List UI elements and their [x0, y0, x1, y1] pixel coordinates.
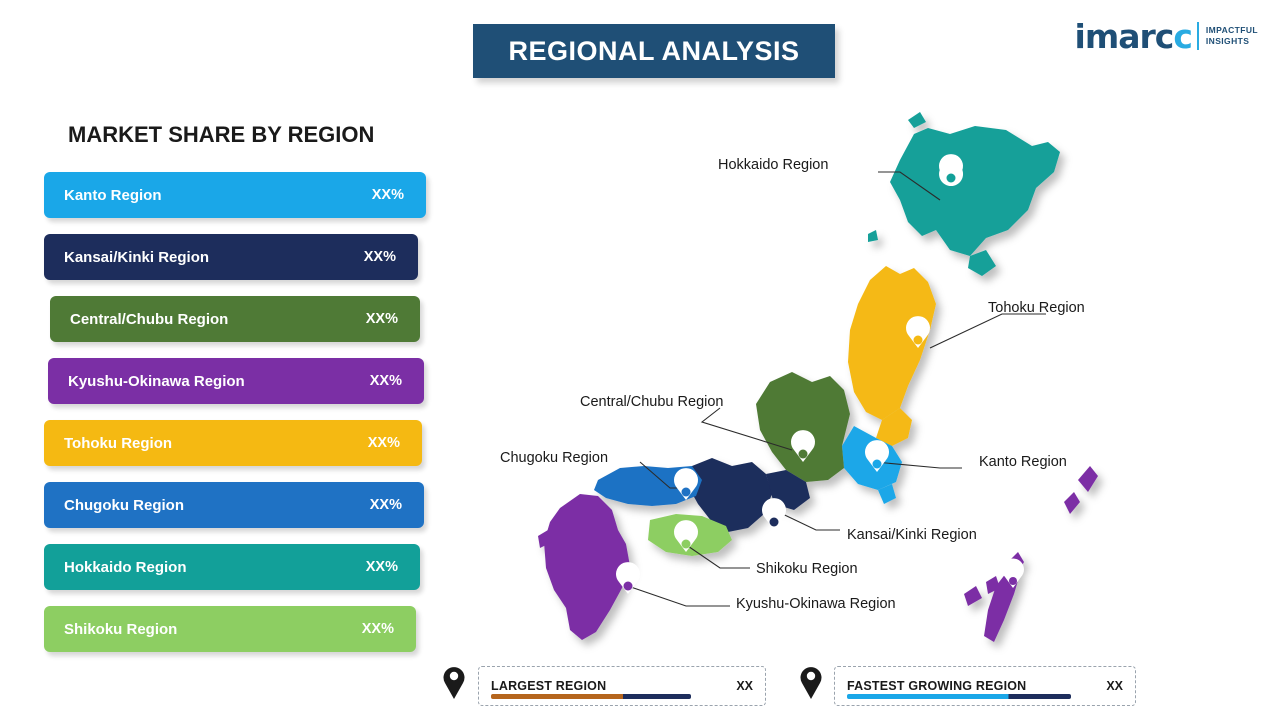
legend-row-kansai-kinki[interactable]: Kansai/Kinki Region XX%	[44, 234, 418, 280]
legend-row-kanto[interactable]: Kanto Region XX%	[44, 172, 426, 218]
callout-kansai-kinki: Kansai/Kinki Region	[847, 527, 977, 543]
logo-accent-dot: c	[1173, 17, 1192, 56]
legend-value: XX%	[370, 497, 402, 513]
fastest-region-value: XX	[1106, 679, 1123, 693]
fastest-region-bar	[847, 694, 1071, 699]
logo-tagline: IMPACTFUL INSIGHTS	[1206, 25, 1258, 46]
logo-tagline-line2: INSIGHTS	[1206, 36, 1258, 47]
fastest-region-label: FASTEST GROWING REGION	[847, 679, 1026, 693]
legend-value: XX%	[370, 373, 402, 389]
legend-row-tohoku[interactable]: Tohoku Region XX%	[44, 420, 422, 466]
legend-row-kyushu-okinawa[interactable]: Kyushu-Okinawa Region XX%	[48, 358, 424, 404]
legend-value: XX%	[366, 559, 398, 575]
slide-root: REGIONAL ANALYSIS imarcc IMPACTFUL INSIG…	[0, 0, 1280, 720]
legend-label: Tohoku Region	[64, 435, 172, 452]
page-title: REGIONAL ANALYSIS	[508, 36, 799, 67]
largest-region-label: LARGEST REGION	[491, 679, 606, 693]
legend-row-central-chubu[interactable]: Central/Chubu Region XX%	[50, 296, 420, 342]
legend-label: Kansai/Kinki Region	[64, 249, 209, 266]
legend-label: Chugoku Region	[64, 497, 184, 514]
legend-value: XX%	[372, 187, 404, 203]
callout-kanto: Kanto Region	[979, 454, 1067, 470]
logo-tagline-line1: IMPACTFUL	[1206, 25, 1258, 36]
largest-region-bar	[491, 694, 691, 699]
legend-row-shikoku[interactable]: Shikoku Region XX%	[44, 606, 416, 652]
legend-value: XX%	[368, 435, 400, 451]
region-legend-list: Kanto Region XX% Kansai/Kinki Region XX%…	[44, 172, 426, 668]
region-tohoku[interactable]	[848, 266, 936, 420]
legend-value: XX%	[362, 621, 394, 637]
leader-kyushu	[622, 584, 730, 606]
largest-region-value: XX	[736, 679, 753, 693]
region-hokkaido-tail[interactable]	[968, 250, 996, 276]
brand-logo: imarcc IMPACTFUL INSIGHTS	[1075, 18, 1258, 54]
region-hokkaido-island-small[interactable]	[908, 112, 926, 128]
largest-region-box: LARGEST REGION XX	[478, 666, 766, 706]
region-central-chubu[interactable]	[756, 372, 850, 482]
callout-shikoku: Shikoku Region	[756, 561, 858, 577]
legend-value: XX%	[366, 311, 398, 327]
region-hokkaido[interactable]	[890, 126, 1060, 256]
pin-hokkaido-icon[interactable]	[939, 154, 963, 186]
legend-label: Hokkaido Region	[64, 559, 187, 576]
region-kyushu[interactable]	[544, 494, 630, 640]
region-hokkaido-island-dot[interactable]	[868, 230, 878, 242]
legend-row-hokkaido[interactable]: Hokkaido Region XX%	[44, 544, 420, 590]
callout-kyushu-okinawa: Kyushu-Okinawa Region	[736, 596, 896, 612]
legend-label: Kanto Region	[64, 187, 162, 204]
legend-label: Shikoku Region	[64, 621, 177, 638]
legend-label: Central/Chubu Region	[70, 311, 228, 328]
legend-row-chugoku[interactable]: Chugoku Region XX%	[44, 482, 424, 528]
region-okinawa-chain-a[interactable]	[1078, 466, 1098, 492]
page-title-banner: REGIONAL ANALYSIS	[473, 24, 835, 78]
callout-hokkaido: Hokkaido Region	[718, 157, 828, 173]
logo-wordmark: imarcc	[1075, 20, 1192, 53]
legend-value: XX%	[364, 249, 396, 265]
region-okinawa-chain-d[interactable]	[964, 586, 982, 606]
callout-chugoku: Chugoku Region	[500, 450, 608, 466]
fastest-region-pin-icon	[798, 665, 824, 699]
leader-tohoku	[930, 314, 1046, 348]
fastest-region-box: FASTEST GROWING REGION XX	[834, 666, 1136, 706]
largest-region-pin-icon	[441, 665, 467, 699]
callout-tohoku: Tohoku Region	[988, 300, 1085, 316]
callout-central-chubu: Central/Chubu Region	[580, 394, 723, 410]
legend-label: Kyushu-Okinawa Region	[68, 373, 245, 390]
pin-kansai-icon[interactable]	[762, 498, 786, 530]
logo-divider	[1197, 22, 1199, 50]
market-share-heading: MARKET SHARE BY REGION	[68, 122, 374, 148]
region-okinawa-chain-b[interactable]	[1064, 492, 1080, 514]
